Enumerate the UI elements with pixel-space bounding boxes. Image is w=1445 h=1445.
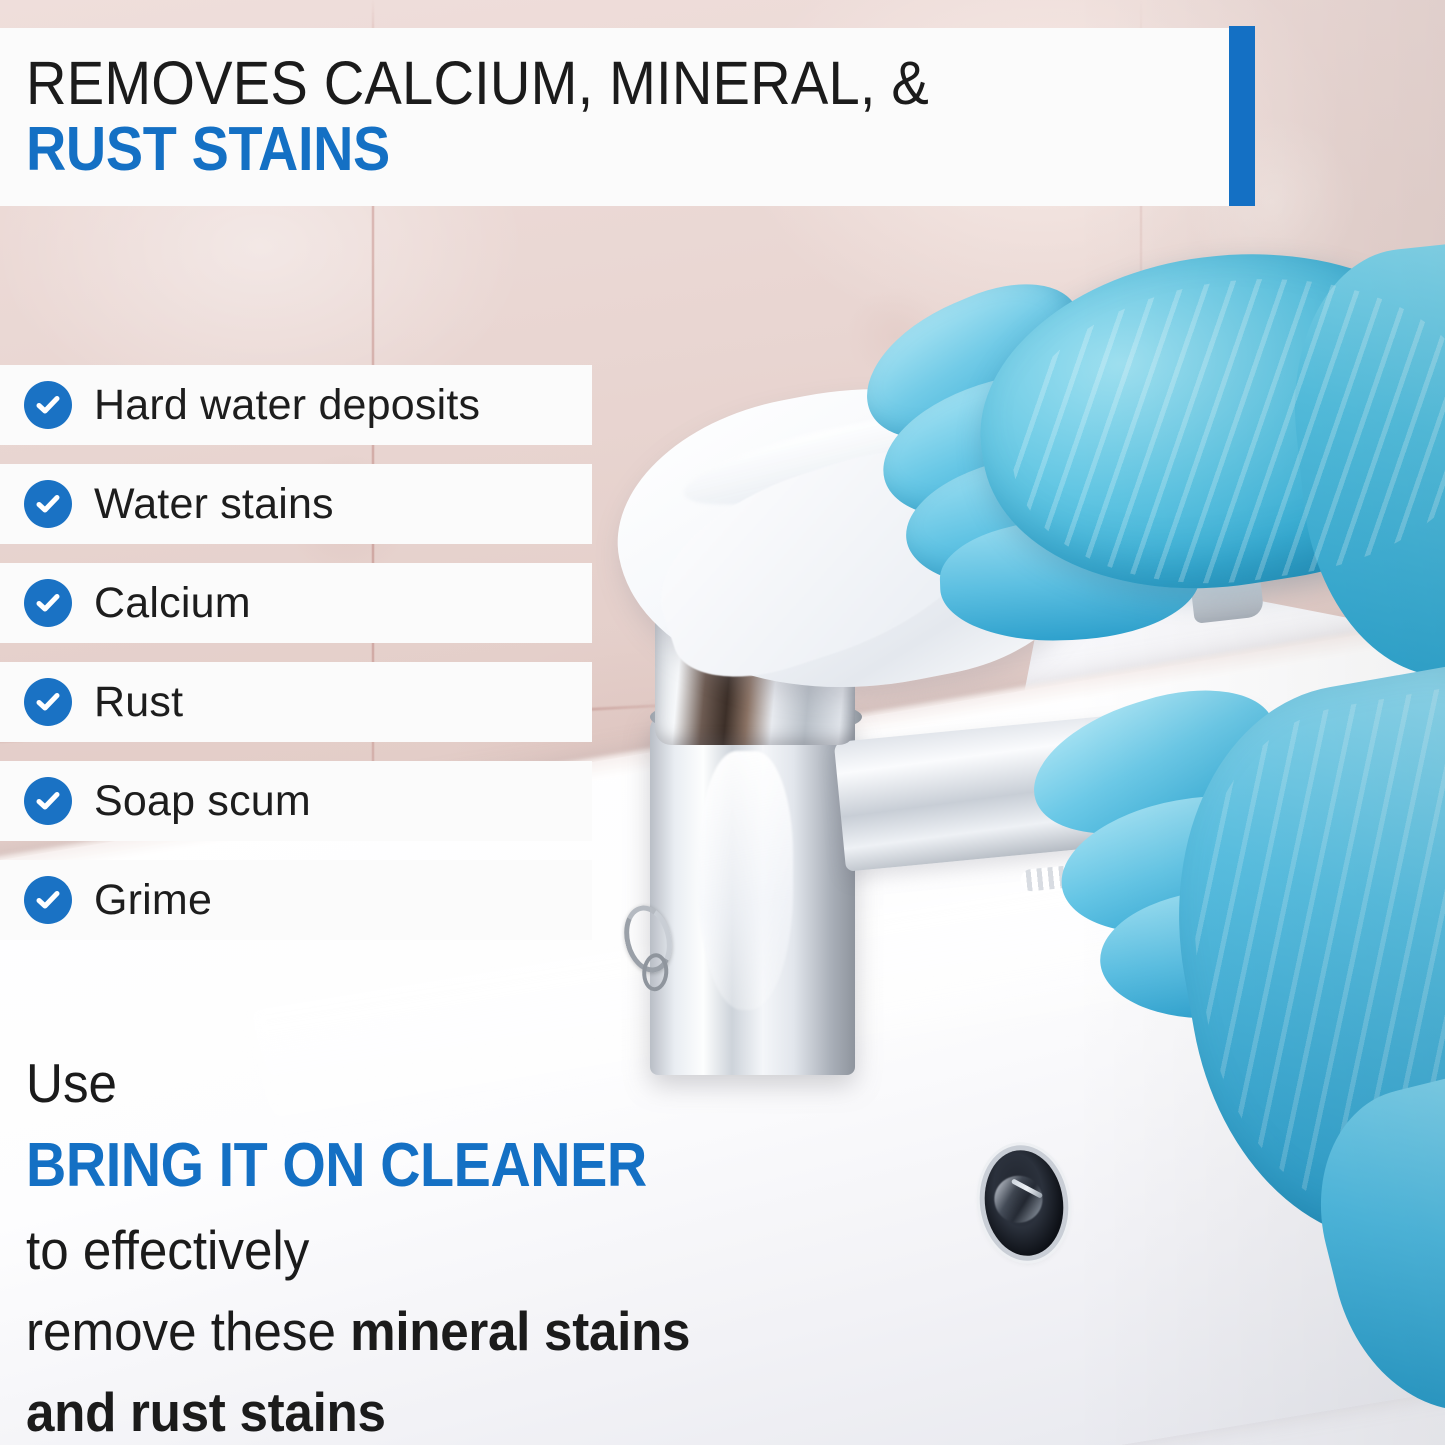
cta-line3-plain: remove these: [26, 1300, 350, 1362]
list-item-label: Water stains: [94, 480, 334, 529]
brand-name: BRING IT ON CLEANER: [26, 1135, 836, 1197]
cta-line-mineral-stains: remove these mineral stains: [26, 1304, 863, 1359]
cta-use-label: Use: [26, 1056, 863, 1111]
list-item: Grime: [0, 860, 592, 940]
headline-banner: REMOVES CALCIUM, MINERAL, & RUST STAINS: [0, 28, 1232, 206]
check-circle-icon: [24, 678, 72, 726]
list-item-label: Calcium: [94, 579, 251, 628]
check-circle-icon: [24, 876, 72, 924]
cta-line4-bold: and rust stains: [26, 1381, 386, 1443]
headline-line-1: REMOVES CALCIUM, MINERAL, &: [26, 52, 1136, 115]
check-circle-icon: [24, 579, 72, 627]
list-item: Hard water deposits: [0, 365, 592, 445]
check-circle-icon: [24, 381, 72, 429]
cta-line3-bold: mineral stains: [350, 1300, 690, 1362]
check-circle-icon: [24, 480, 72, 528]
benefits-checklist: Hard water deposits Water stains Calcium: [0, 365, 592, 959]
list-item-label: Hard water deposits: [94, 381, 480, 430]
call-to-action-copy: Use BRING IT ON CLEANER to effectively r…: [26, 1056, 926, 1440]
faucet-body: [650, 715, 855, 1075]
list-item-label: Grime: [94, 876, 212, 925]
list-item-label: Soap scum: [94, 777, 311, 826]
header-accent-bar: [1229, 26, 1255, 206]
check-circle-icon: [24, 777, 72, 825]
list-item: Rust: [0, 662, 592, 742]
cta-line-effectively: to effectively: [26, 1223, 863, 1278]
product-infographic: REMOVES CALCIUM, MINERAL, & RUST STAINS …: [0, 0, 1445, 1445]
list-item: Water stains: [0, 464, 592, 544]
cta-line-rust-stains: and rust stains: [26, 1385, 863, 1440]
list-item: Soap scum: [0, 761, 592, 841]
headline-line-2: RUST STAINS: [26, 117, 1111, 182]
list-item: Calcium: [0, 563, 592, 643]
list-item-label: Rust: [94, 678, 183, 727]
